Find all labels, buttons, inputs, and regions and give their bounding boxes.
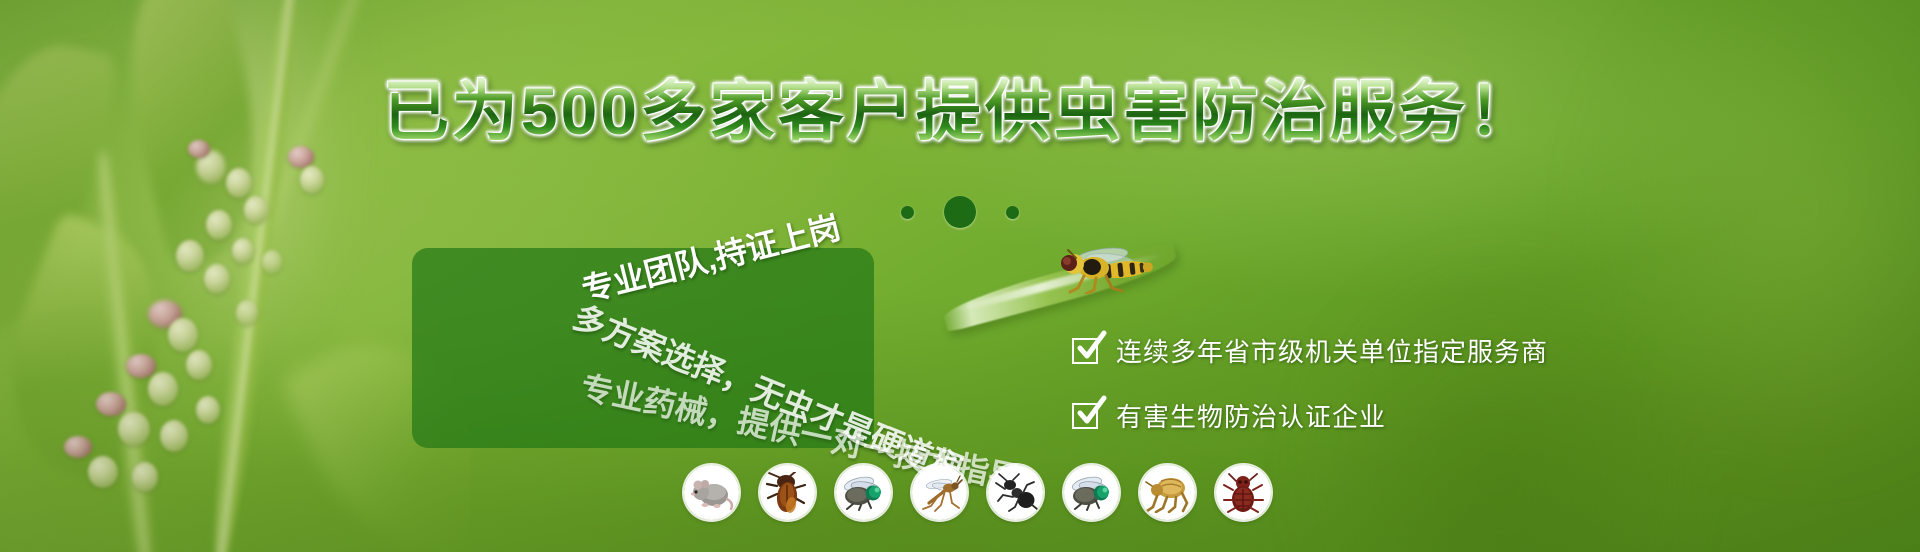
dot-small-left-icon bbox=[901, 206, 914, 219]
blowfly-icon[interactable] bbox=[836, 465, 891, 520]
dot-large-center-icon bbox=[944, 196, 976, 228]
mosquito-icon[interactable] bbox=[912, 465, 967, 520]
dot-small-right-icon bbox=[1006, 206, 1019, 219]
promo-banner: 已为500多家客户提供虫害防治服务！ 已为500多家客户提供虫害防治服务！ 专业… bbox=[0, 0, 1920, 552]
pest-icon-row bbox=[684, 465, 1271, 520]
decor-dots bbox=[0, 196, 1920, 228]
ant-icon[interactable] bbox=[988, 465, 1043, 520]
checkbox-checked-icon bbox=[1072, 336, 1102, 366]
checkbox-checked-icon bbox=[1072, 401, 1102, 431]
list-item: 连续多年省市级机关单位指定服务商 bbox=[1072, 332, 1548, 369]
list-item: 有害生物防治认证企业 bbox=[1072, 397, 1548, 434]
selling-points-panel: 专业团队,持证上岗 多方案选择，无虫才是硬道理 专业药械，提供一对一技术指导 bbox=[412, 248, 874, 448]
housefly-icon[interactable] bbox=[1064, 465, 1119, 520]
cockroach-icon[interactable] bbox=[760, 465, 815, 520]
credentials-list: 连续多年省市级机关单位指定服务商 有害生物防治认证企业 bbox=[1072, 332, 1548, 434]
hoverfly-icon bbox=[1040, 246, 1160, 294]
credential-text: 有害生物防治认证企业 bbox=[1116, 397, 1386, 434]
headline-container: 已为500多家客户提供虫害防治服务！ 已为500多家客户提供虫害防治服务！ bbox=[0, 0, 1920, 160]
bedbug-icon[interactable] bbox=[1216, 465, 1271, 520]
credential-text: 连续多年省市级机关单位指定服务商 bbox=[1116, 332, 1548, 369]
rodent-icon[interactable] bbox=[684, 465, 739, 520]
page-title: 已为500多家客户提供虫害防治服务！ bbox=[0, 78, 1920, 144]
flea-icon[interactable] bbox=[1140, 465, 1195, 520]
